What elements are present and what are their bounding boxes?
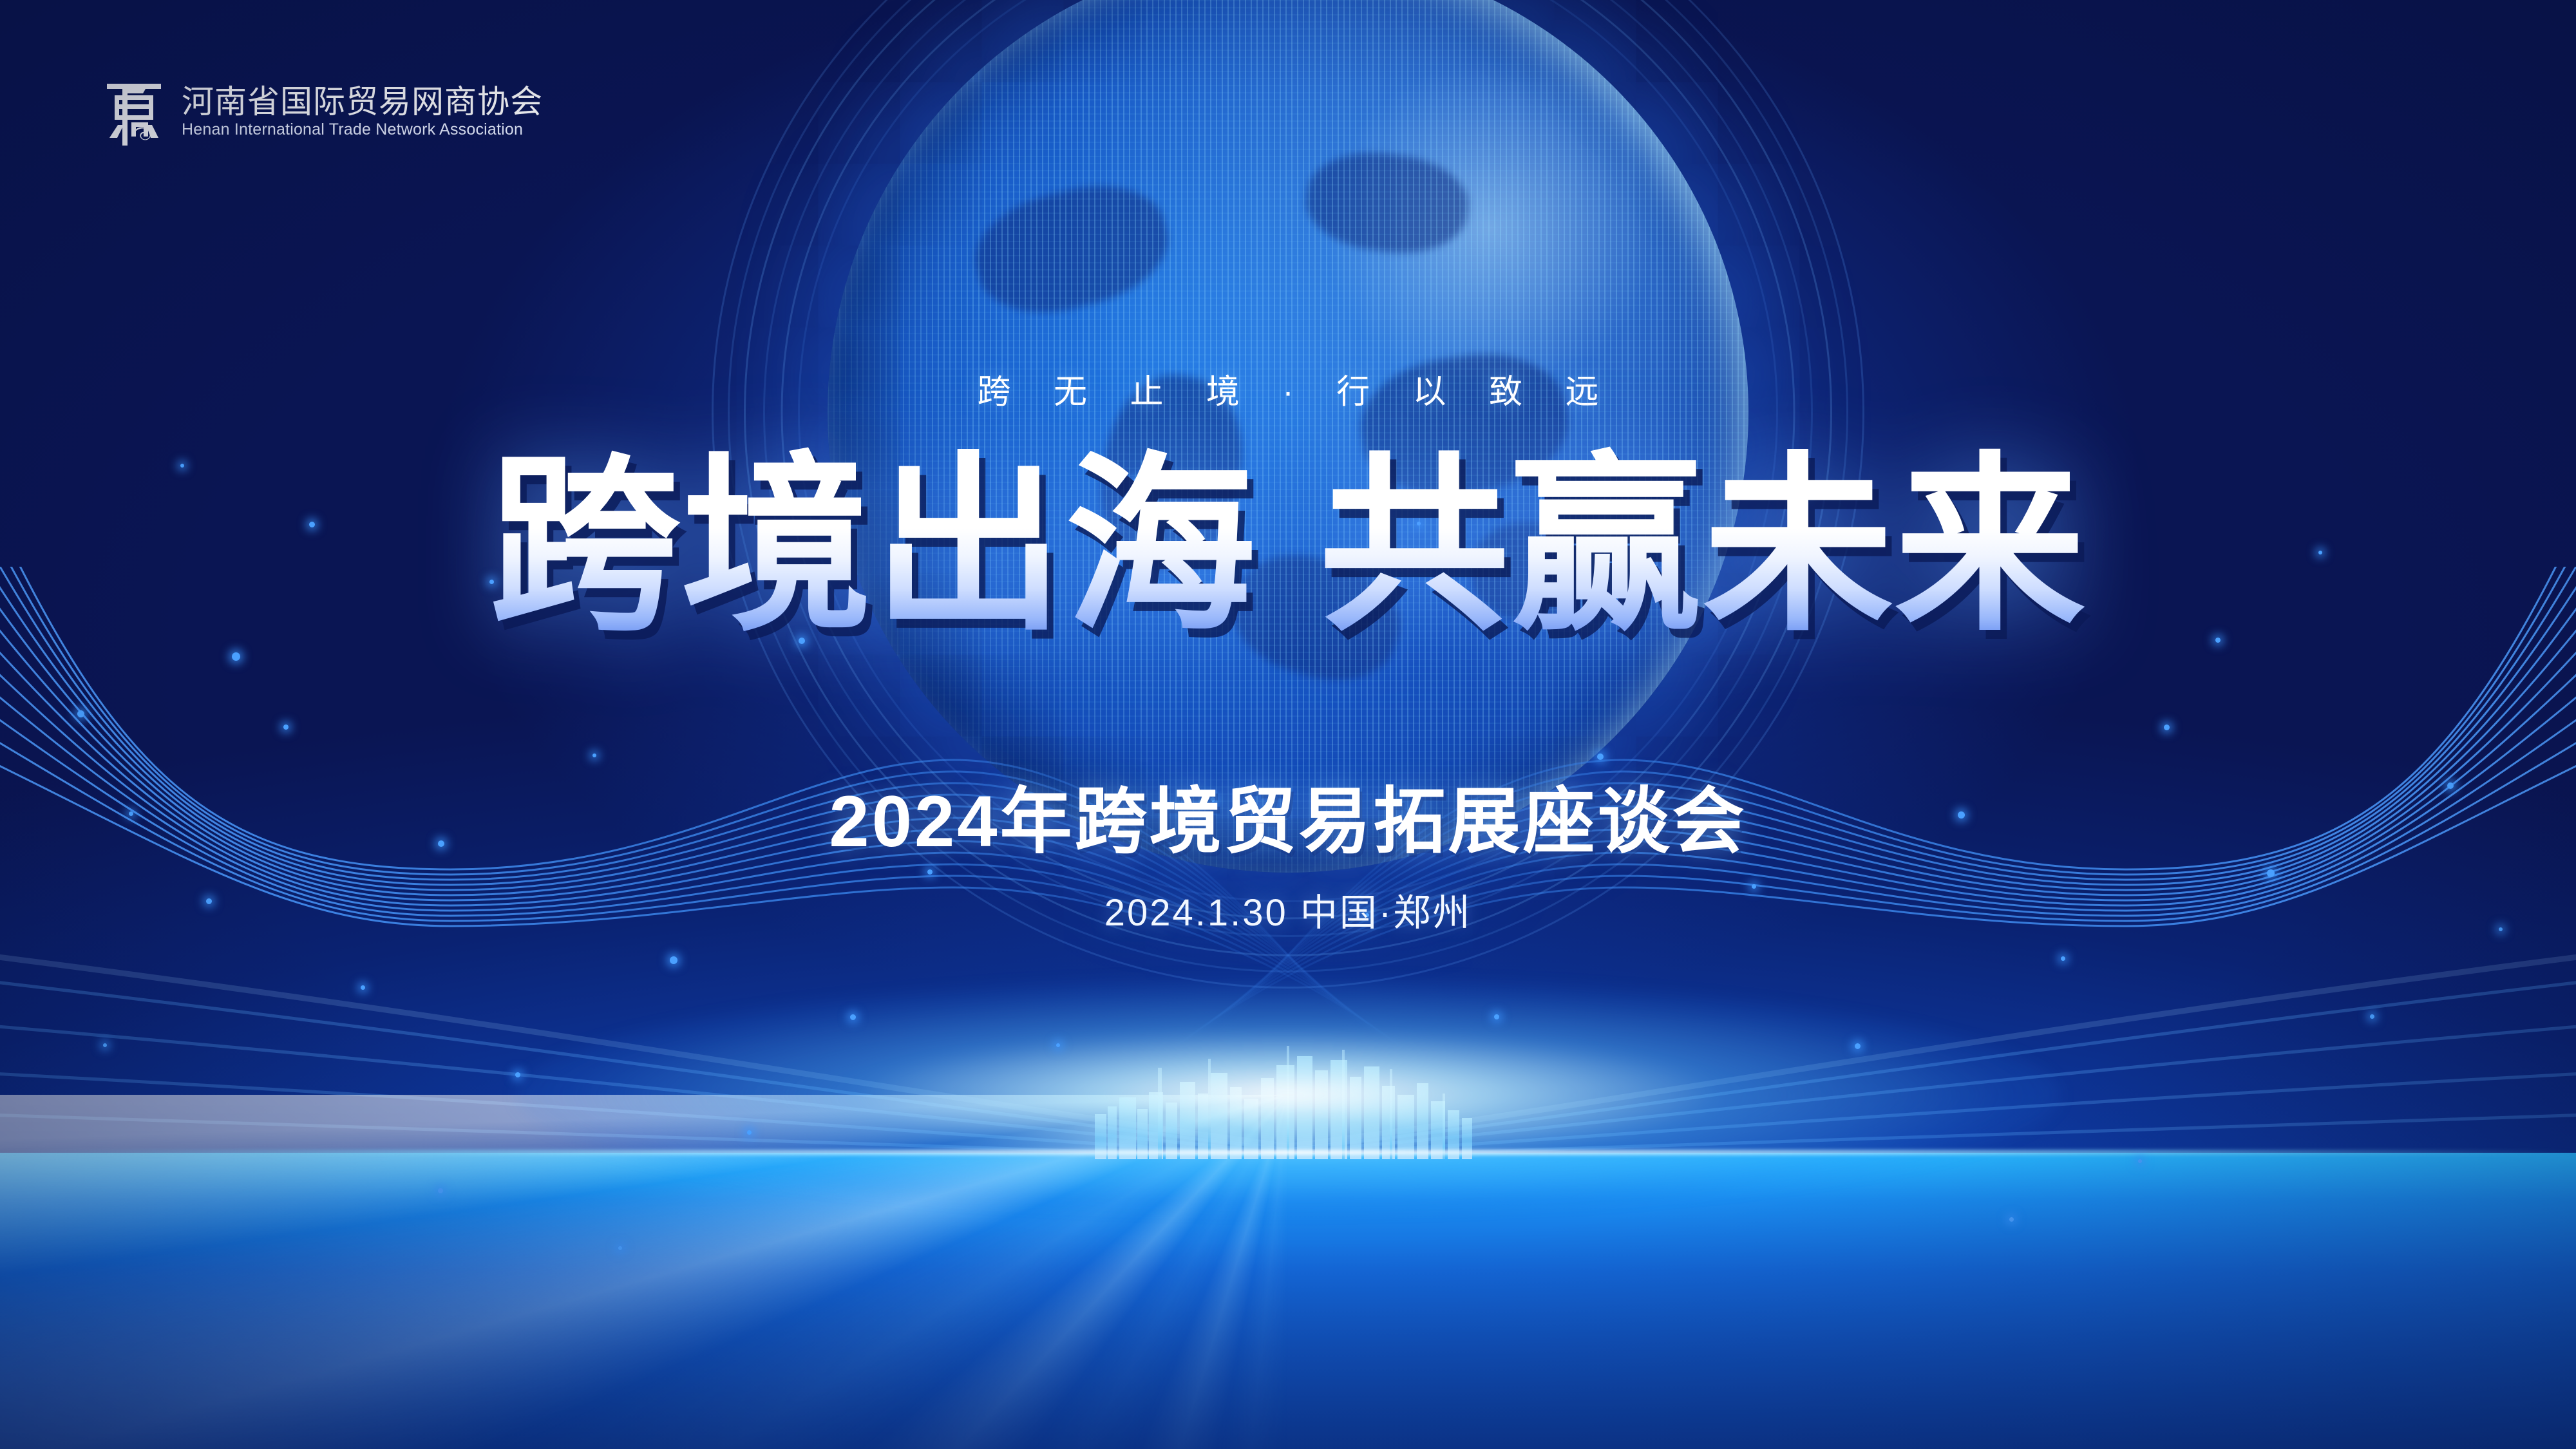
headline-part-1: 跨境出海 [489,439,1257,652]
page-title: 跨境出海共赢未来 [0,451,2576,641]
headline-part-2: 共赢未来 [1319,439,2087,652]
seal-monogram-icon [103,76,165,147]
tagline: 跨 无 止 境 · 行 以 致 远 [0,365,2576,413]
logo-text-block: 河南省国际贸易网商协会 Henan International Trade Ne… [182,85,543,138]
horizon-line [0,1150,2576,1155]
association-logo[interactable]: 河南省国际贸易网商协会 Henan International Trade Ne… [103,76,543,147]
event-banner: 河南省国际贸易网商协会 Henan International Trade Ne… [0,0,2576,1449]
event-subtitle: 2024年跨境贸易拓展座谈会 [0,763,2576,867]
logo-name-cn: 河南省国际贸易网商协会 [182,85,543,119]
event-dateline: 2024.1.30 中国·郑州 [0,882,2576,936]
logo-name-en: Henan International Trade Network Associ… [182,121,543,138]
horizon-glow [515,979,2061,1211]
